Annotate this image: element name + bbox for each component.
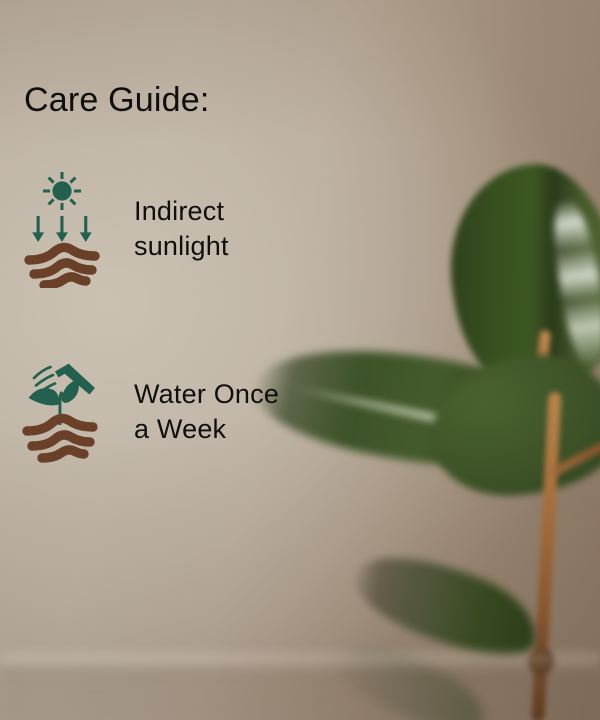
page-title: Care Guide: bbox=[24, 81, 210, 120]
soil-waves-icon bbox=[29, 247, 95, 285]
care-guide-screen: Care Guide: bbox=[0, 0, 600, 720]
care-item-water-once-a-week: Water Once a Week bbox=[22, 358, 279, 466]
care-item-label: Indirect sunlight bbox=[134, 194, 229, 263]
sun-icon bbox=[43, 172, 81, 210]
watering-seedling-icon bbox=[22, 358, 98, 466]
down-arrows-icon bbox=[32, 216, 91, 242]
indirect-sunlight-icon bbox=[24, 170, 100, 288]
care-guide-content: Care Guide: bbox=[0, 0, 600, 720]
care-item-indirect-sunlight: Indirect sunlight bbox=[24, 170, 229, 288]
care-item-label: Water Once a Week bbox=[134, 377, 279, 446]
